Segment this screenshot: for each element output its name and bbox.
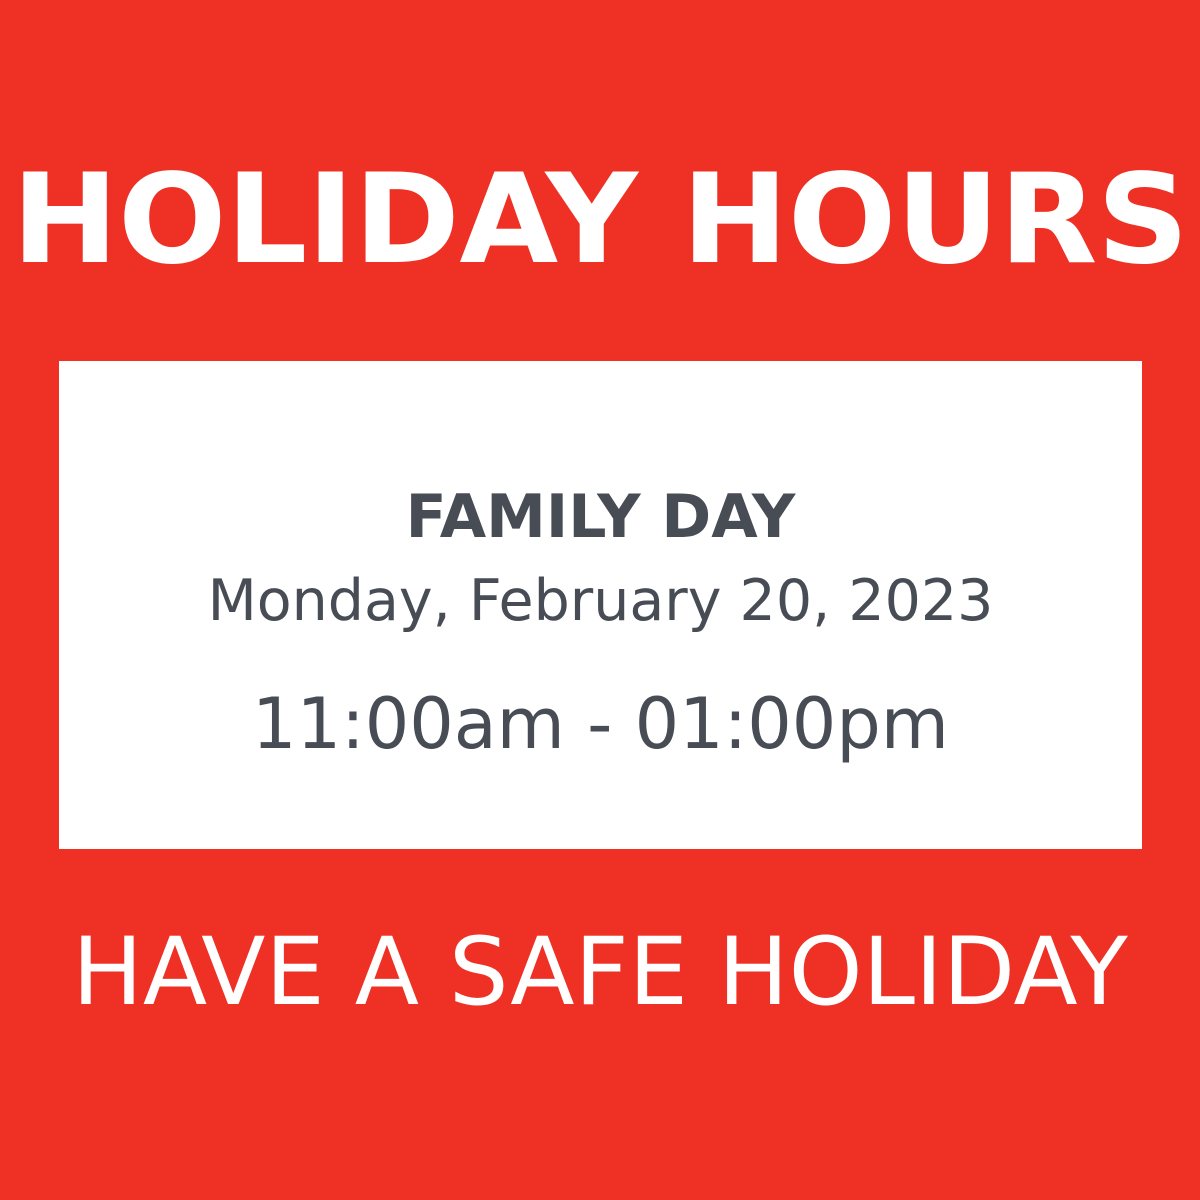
- holiday-info-card: FAMILY DAY Monday, February 20, 2023 11:…: [59, 361, 1142, 849]
- holiday-hours-poster: HOLIDAY HOURS FAMILY DAY Monday, Februar…: [0, 0, 1200, 1200]
- holiday-occasion-label: FAMILY DAY: [406, 487, 796, 547]
- holiday-hours-label: 11:00am - 01:00pm: [252, 689, 949, 759]
- page-title: HOLIDAY HOURS: [0, 150, 1200, 290]
- holiday-date-label: Monday, February 20, 2023: [208, 573, 994, 630]
- footer-message: HAVE A SAFE HOLIDAY: [0, 915, 1200, 1030]
